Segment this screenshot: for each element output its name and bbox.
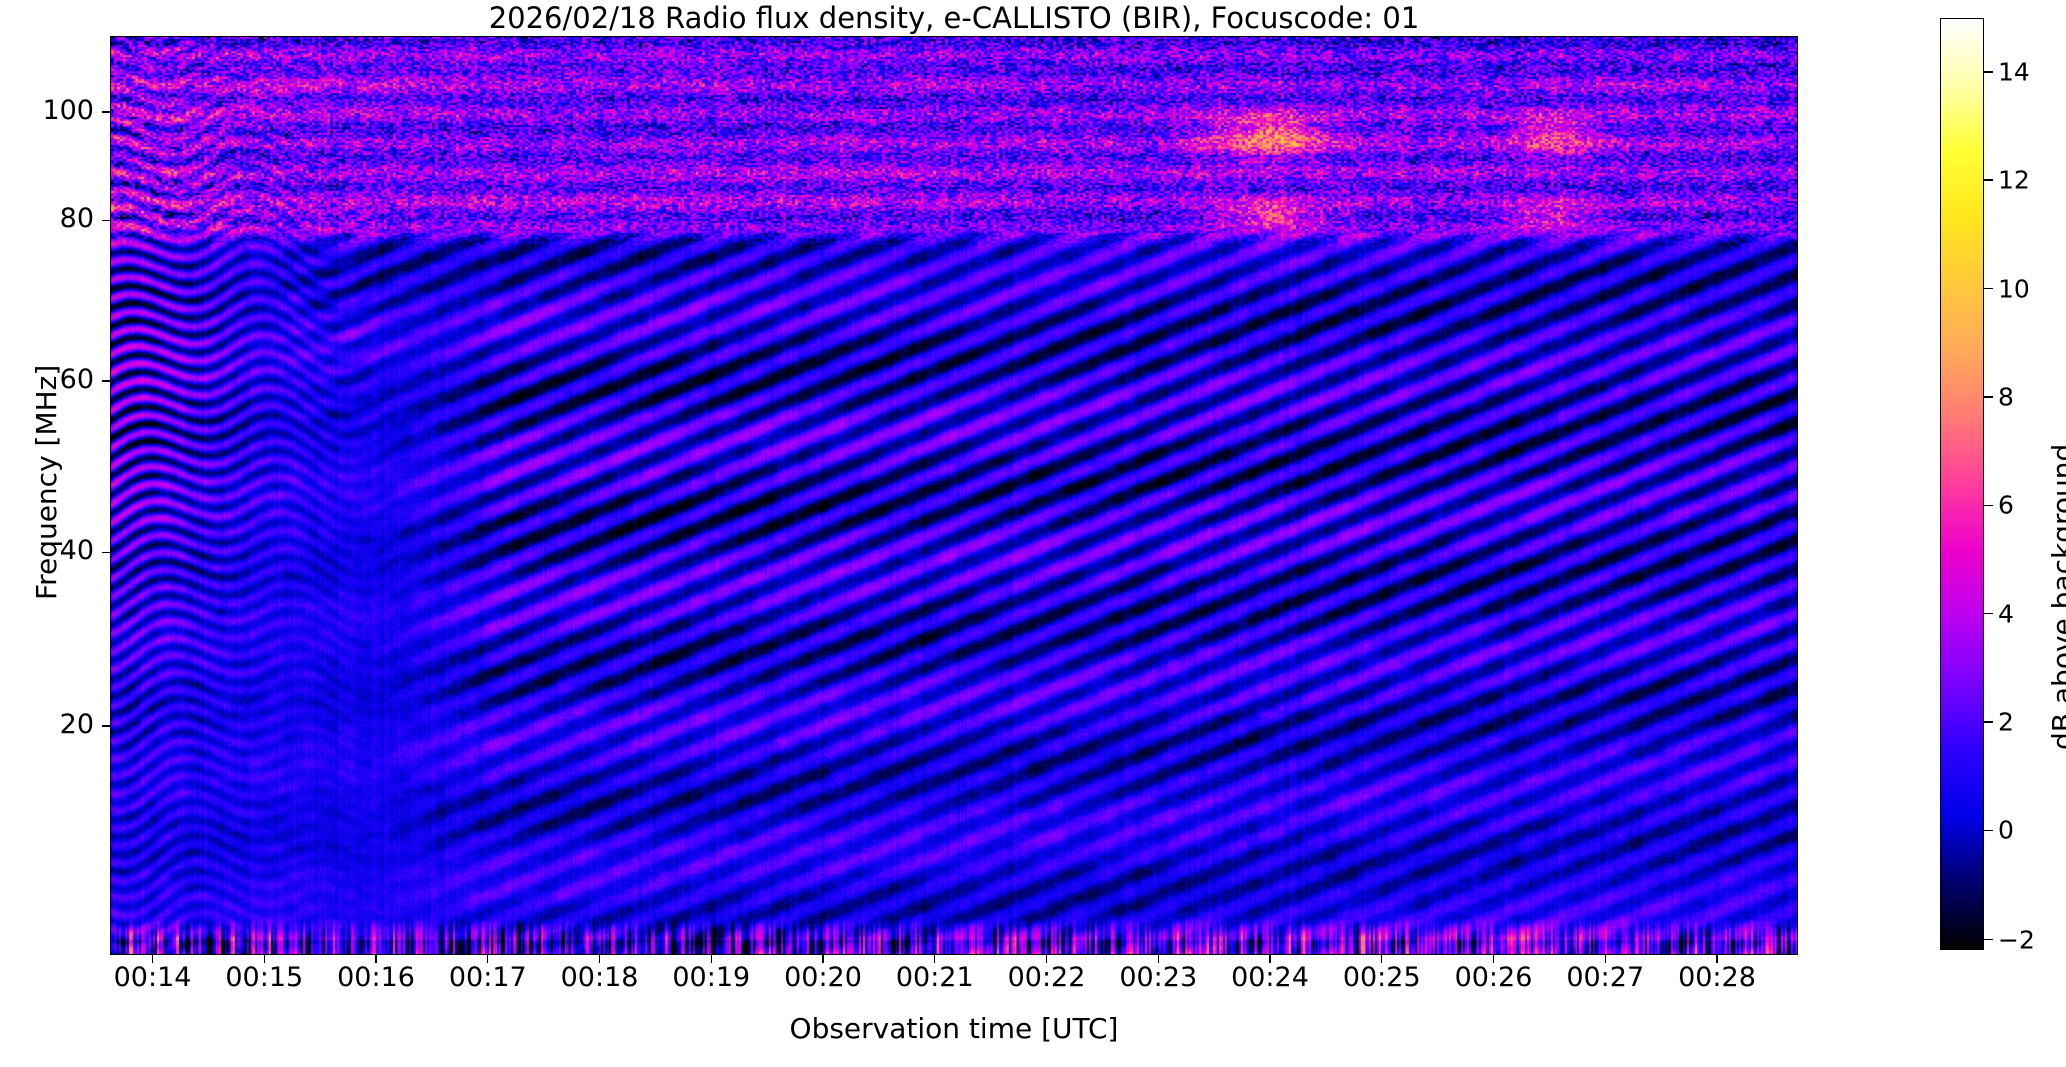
spectrogram-image bbox=[111, 37, 1797, 954]
y-tick-mark bbox=[102, 220, 110, 221]
colorbar-tick-label: −2 bbox=[1998, 925, 2035, 954]
x-tick-label: 00:14 bbox=[114, 962, 192, 993]
colorbar-tick-label: 12 bbox=[1998, 166, 2030, 195]
colorbar-tick-mark bbox=[1984, 179, 1993, 180]
x-tick-label: 00:25 bbox=[1343, 962, 1421, 993]
colorbar bbox=[1940, 18, 1984, 950]
colorbar-tick-mark bbox=[1984, 613, 1993, 614]
colorbar-tick-mark bbox=[1984, 396, 1993, 397]
y-tick-label: 20 bbox=[0, 709, 94, 740]
x-tick-label: 00:24 bbox=[1231, 962, 1309, 993]
x-tick-label: 00:28 bbox=[1678, 962, 1756, 993]
colorbar-tick-mark bbox=[1984, 830, 1993, 831]
x-tick-label: 00:18 bbox=[561, 962, 639, 993]
y-tick-label: 80 bbox=[0, 203, 94, 234]
colorbar-label: dB above background bbox=[2046, 444, 2066, 750]
x-tick-label: 00:27 bbox=[1566, 962, 1644, 993]
colorbar-tick-mark bbox=[1984, 939, 1993, 940]
x-tick-label: 00:20 bbox=[784, 962, 862, 993]
y-tick-mark bbox=[102, 111, 110, 112]
colorbar-tick-label: 4 bbox=[1998, 599, 2014, 628]
x-tick-label: 00:21 bbox=[896, 962, 974, 993]
x-tick-label: 00:16 bbox=[337, 962, 415, 993]
x-tick-label: 00:15 bbox=[225, 962, 303, 993]
colorbar-tick-label: 2 bbox=[1998, 708, 2014, 737]
y-tick-mark bbox=[102, 380, 110, 381]
x-tick-label: 00:17 bbox=[449, 962, 527, 993]
y-axis-label: Frequency [MHz] bbox=[30, 365, 63, 600]
x-axis-label: Observation time [UTC] bbox=[110, 1012, 1798, 1045]
x-tick-label: 00:19 bbox=[672, 962, 750, 993]
colorbar-tick-mark bbox=[1984, 505, 1993, 506]
x-tick-label: 00:23 bbox=[1119, 962, 1197, 993]
colorbar-tick-mark bbox=[1984, 288, 1993, 289]
spectrogram-plot-area bbox=[110, 36, 1798, 955]
y-tick-mark bbox=[102, 552, 110, 553]
x-tick-label: 00:26 bbox=[1455, 962, 1533, 993]
colorbar-tick-label: 6 bbox=[1998, 491, 2014, 520]
colorbar-tick-label: 10 bbox=[1998, 274, 2030, 303]
colorbar-tick-label: 8 bbox=[1998, 382, 2014, 411]
colorbar-tick-mark bbox=[1984, 721, 1993, 722]
y-tick-mark bbox=[102, 725, 110, 726]
colorbar-tick-mark bbox=[1984, 71, 1993, 72]
spectrogram-figure: 2026/02/18 Radio flux density, e-CALLIST… bbox=[0, 0, 2066, 1067]
colorbar-tick-label: 14 bbox=[1998, 58, 2030, 87]
y-tick-label: 100 bbox=[0, 95, 94, 126]
colorbar-tick-label: 0 bbox=[1998, 816, 2014, 845]
colorbar-gradient bbox=[1941, 19, 1983, 949]
x-tick-label: 00:22 bbox=[1008, 962, 1086, 993]
page-title: 2026/02/18 Radio flux density, e-CALLIST… bbox=[110, 2, 1798, 34]
